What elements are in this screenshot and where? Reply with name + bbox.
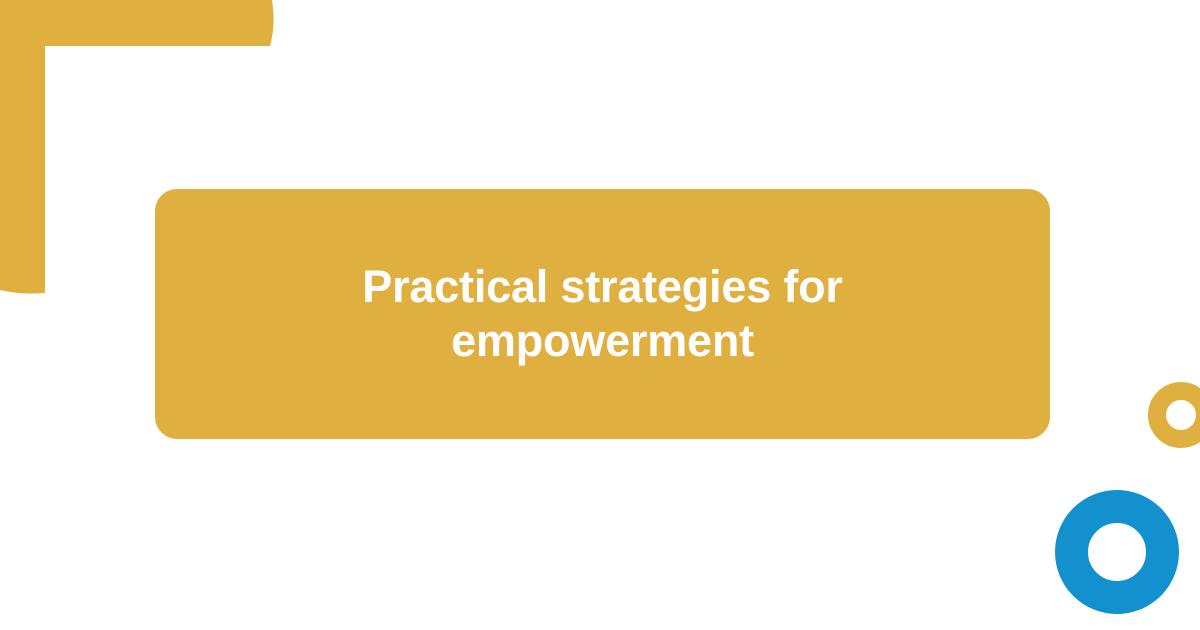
gold-ring-icon [1148,382,1200,448]
page-title: Practical strategies for empowerment [323,260,883,368]
banner-graphic: Practical strategies for empowerment [0,0,1200,630]
title-card: Practical strategies for empowerment [155,189,1050,439]
blue-ring-icon [1055,490,1179,614]
